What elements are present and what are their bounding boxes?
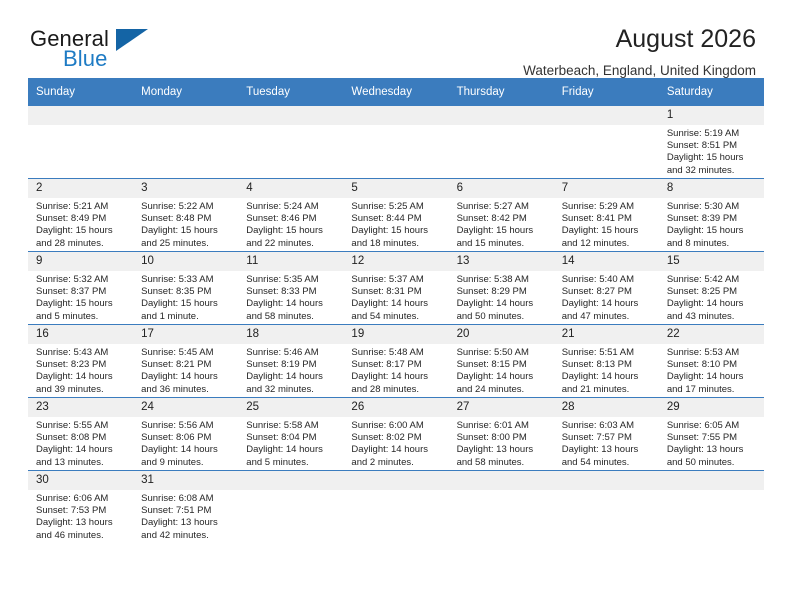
daylight-text-line1: Daylight: 14 hours bbox=[457, 371, 548, 383]
calendar-day-cell[interactable]: 12Sunrise: 5:37 AMSunset: 8:31 PMDayligh… bbox=[343, 252, 448, 325]
sunrise-text: Sunrise: 5:30 AM bbox=[667, 201, 758, 213]
day-number: 16 bbox=[28, 325, 133, 344]
sunrise-text: Sunrise: 5:35 AM bbox=[246, 274, 337, 286]
calendar-day-cell[interactable]: 19Sunrise: 5:48 AMSunset: 8:17 PMDayligh… bbox=[343, 325, 448, 398]
day-number: 23 bbox=[28, 398, 133, 417]
calendar-day-cell[interactable]: 10Sunrise: 5:33 AMSunset: 8:35 PMDayligh… bbox=[133, 252, 238, 325]
sunset-text: Sunset: 8:31 PM bbox=[351, 286, 442, 298]
page-header: General Blue August 2026 Waterbeach, Eng… bbox=[0, 0, 792, 78]
daylight-text-line2: and 5 minutes. bbox=[246, 457, 337, 469]
sunset-text: Sunset: 8:21 PM bbox=[141, 359, 232, 371]
calendar-week-row: 30Sunrise: 6:06 AMSunset: 7:53 PMDayligh… bbox=[28, 471, 764, 544]
calendar-day-cell[interactable]: 30Sunrise: 6:06 AMSunset: 7:53 PMDayligh… bbox=[28, 471, 133, 544]
daylight-text-line2: and 54 minutes. bbox=[351, 311, 442, 323]
daylight-text-line1: Daylight: 15 hours bbox=[141, 298, 232, 310]
day-details: Sunrise: 5:42 AMSunset: 8:25 PMDaylight:… bbox=[659, 271, 764, 323]
sunset-text: Sunset: 8:33 PM bbox=[246, 286, 337, 298]
sunset-text: Sunset: 8:46 PM bbox=[246, 213, 337, 225]
daylight-text-line1: Daylight: 15 hours bbox=[457, 225, 548, 237]
day-details: Sunrise: 5:33 AMSunset: 8:35 PMDaylight:… bbox=[133, 271, 238, 323]
day-number bbox=[28, 106, 133, 125]
daylight-text-line1: Daylight: 14 hours bbox=[562, 371, 653, 383]
day-number: 31 bbox=[133, 471, 238, 490]
daylight-text-line1: Daylight: 14 hours bbox=[246, 371, 337, 383]
day-number bbox=[343, 471, 448, 490]
daylight-text-line2: and 46 minutes. bbox=[36, 530, 127, 542]
calendar-page: General Blue August 2026 Waterbeach, Eng… bbox=[0, 0, 792, 612]
sunrise-text: Sunrise: 5:29 AM bbox=[562, 201, 653, 213]
calendar-day-cell[interactable]: 8Sunrise: 5:30 AMSunset: 8:39 PMDaylight… bbox=[659, 179, 764, 252]
calendar-day-cell[interactable]: 29Sunrise: 6:05 AMSunset: 7:55 PMDayligh… bbox=[659, 398, 764, 471]
calendar-day-cell-empty bbox=[449, 471, 554, 544]
calendar-week-row: 9Sunrise: 5:32 AMSunset: 8:37 PMDaylight… bbox=[28, 252, 764, 325]
sunset-text: Sunset: 8:44 PM bbox=[351, 213, 442, 225]
day-number: 7 bbox=[554, 179, 659, 198]
day-details: Sunrise: 5:56 AMSunset: 8:06 PMDaylight:… bbox=[133, 417, 238, 469]
day-details: Sunrise: 5:27 AMSunset: 8:42 PMDaylight:… bbox=[449, 198, 554, 250]
sunrise-text: Sunrise: 5:48 AM bbox=[351, 347, 442, 359]
daylight-text-line1: Daylight: 14 hours bbox=[141, 444, 232, 456]
day-number bbox=[238, 106, 343, 125]
sunrise-text: Sunrise: 5:55 AM bbox=[36, 420, 127, 432]
daylight-text-line1: Daylight: 15 hours bbox=[667, 152, 758, 164]
day-number: 28 bbox=[554, 398, 659, 417]
daylight-text-line2: and 50 minutes. bbox=[667, 457, 758, 469]
day-number: 21 bbox=[554, 325, 659, 344]
calendar-day-cell[interactable]: 20Sunrise: 5:50 AMSunset: 8:15 PMDayligh… bbox=[449, 325, 554, 398]
sunset-text: Sunset: 8:41 PM bbox=[562, 213, 653, 225]
sunset-text: Sunset: 7:57 PM bbox=[562, 432, 653, 444]
sunset-text: Sunset: 8:19 PM bbox=[246, 359, 337, 371]
day-number bbox=[554, 471, 659, 490]
calendar-day-cell[interactable]: 28Sunrise: 6:03 AMSunset: 7:57 PMDayligh… bbox=[554, 398, 659, 471]
daylight-text-line1: Daylight: 14 hours bbox=[351, 371, 442, 383]
day-number: 11 bbox=[238, 252, 343, 271]
daylight-text-line2: and 21 minutes. bbox=[562, 384, 653, 396]
calendar-day-cell[interactable]: 21Sunrise: 5:51 AMSunset: 8:13 PMDayligh… bbox=[554, 325, 659, 398]
daylight-text-line1: Daylight: 15 hours bbox=[667, 225, 758, 237]
sunrise-sunset-calendar-table: SundayMondayTuesdayWednesdayThursdayFrid… bbox=[28, 78, 764, 543]
sunrise-text: Sunrise: 6:05 AM bbox=[667, 420, 758, 432]
sunrise-text: Sunrise: 6:01 AM bbox=[457, 420, 548, 432]
day-number: 15 bbox=[659, 252, 764, 271]
daylight-text-line2: and 5 minutes. bbox=[36, 311, 127, 323]
weekday-header-monday: Monday bbox=[133, 78, 238, 106]
daylight-text-line2: and 9 minutes. bbox=[141, 457, 232, 469]
logo-triangle-icon bbox=[116, 29, 148, 51]
sunset-text: Sunset: 8:04 PM bbox=[246, 432, 337, 444]
daylight-text-line2: and 43 minutes. bbox=[667, 311, 758, 323]
sunset-text: Sunset: 7:53 PM bbox=[36, 505, 127, 517]
sunrise-text: Sunrise: 5:32 AM bbox=[36, 274, 127, 286]
day-number: 22 bbox=[659, 325, 764, 344]
day-details: Sunrise: 6:06 AMSunset: 7:53 PMDaylight:… bbox=[28, 490, 133, 542]
calendar-wrapper: SundayMondayTuesdayWednesdayThursdayFrid… bbox=[0, 78, 792, 543]
day-details: Sunrise: 5:21 AMSunset: 8:49 PMDaylight:… bbox=[28, 198, 133, 250]
day-details: Sunrise: 6:08 AMSunset: 7:51 PMDaylight:… bbox=[133, 490, 238, 542]
daylight-text-line1: Daylight: 13 hours bbox=[36, 517, 127, 529]
daylight-text-line1: Daylight: 14 hours bbox=[667, 298, 758, 310]
sunset-text: Sunset: 8:23 PM bbox=[36, 359, 127, 371]
calendar-week-row: 2Sunrise: 5:21 AMSunset: 8:49 PMDaylight… bbox=[28, 179, 764, 252]
sunrise-text: Sunrise: 5:19 AM bbox=[667, 128, 758, 140]
calendar-day-cell-empty bbox=[659, 471, 764, 544]
day-details: Sunrise: 5:22 AMSunset: 8:48 PMDaylight:… bbox=[133, 198, 238, 250]
sunrise-text: Sunrise: 5:45 AM bbox=[141, 347, 232, 359]
calendar-week-row: 16Sunrise: 5:43 AMSunset: 8:23 PMDayligh… bbox=[28, 325, 764, 398]
day-number: 3 bbox=[133, 179, 238, 198]
day-number: 27 bbox=[449, 398, 554, 417]
daylight-text-line1: Daylight: 14 hours bbox=[351, 298, 442, 310]
day-details: Sunrise: 5:51 AMSunset: 8:13 PMDaylight:… bbox=[554, 344, 659, 396]
calendar-day-cell[interactable]: 6Sunrise: 5:27 AMSunset: 8:42 PMDaylight… bbox=[449, 179, 554, 252]
sunrise-text: Sunrise: 6:08 AM bbox=[141, 493, 232, 505]
daylight-text-line2: and 58 minutes. bbox=[457, 457, 548, 469]
day-number: 24 bbox=[133, 398, 238, 417]
day-details: Sunrise: 5:35 AMSunset: 8:33 PMDaylight:… bbox=[238, 271, 343, 323]
day-number: 4 bbox=[238, 179, 343, 198]
calendar-day-cell[interactable]: 7Sunrise: 5:29 AMSunset: 8:41 PMDaylight… bbox=[554, 179, 659, 252]
sunset-text: Sunset: 8:15 PM bbox=[457, 359, 548, 371]
daylight-text-line1: Daylight: 14 hours bbox=[141, 371, 232, 383]
day-number bbox=[554, 106, 659, 125]
title-block: August 2026 Waterbeach, England, United … bbox=[523, 26, 756, 78]
day-details: Sunrise: 5:19 AMSunset: 8:51 PMDaylight:… bbox=[659, 125, 764, 177]
day-details: Sunrise: 6:01 AMSunset: 8:00 PMDaylight:… bbox=[449, 417, 554, 469]
sunrise-text: Sunrise: 5:25 AM bbox=[351, 201, 442, 213]
sunrise-text: Sunrise: 5:24 AM bbox=[246, 201, 337, 213]
daylight-text-line2: and 36 minutes. bbox=[141, 384, 232, 396]
daylight-text-line1: Daylight: 14 hours bbox=[36, 371, 127, 383]
daylight-text-line2: and 24 minutes. bbox=[457, 384, 548, 396]
daylight-text-line2: and 54 minutes. bbox=[562, 457, 653, 469]
day-details: Sunrise: 6:03 AMSunset: 7:57 PMDaylight:… bbox=[554, 417, 659, 469]
calendar-day-cell-empty bbox=[28, 106, 133, 179]
daylight-text-line1: Daylight: 15 hours bbox=[246, 225, 337, 237]
weekday-header-friday: Friday bbox=[554, 78, 659, 106]
daylight-text-line2: and 28 minutes. bbox=[351, 384, 442, 396]
daylight-text-line2: and 32 minutes. bbox=[667, 165, 758, 177]
sunset-text: Sunset: 8:17 PM bbox=[351, 359, 442, 371]
calendar-week-row: 1Sunrise: 5:19 AMSunset: 8:51 PMDaylight… bbox=[28, 106, 764, 179]
day-number: 18 bbox=[238, 325, 343, 344]
page-title: August 2026 bbox=[523, 26, 756, 54]
day-number bbox=[133, 106, 238, 125]
day-number: 30 bbox=[28, 471, 133, 490]
sunset-text: Sunset: 8:06 PM bbox=[141, 432, 232, 444]
sunset-text: Sunset: 8:00 PM bbox=[457, 432, 548, 444]
day-number: 8 bbox=[659, 179, 764, 198]
sunset-text: Sunset: 8:29 PM bbox=[457, 286, 548, 298]
daylight-text-line2: and 2 minutes. bbox=[351, 457, 442, 469]
calendar-day-cell[interactable]: 9Sunrise: 5:32 AMSunset: 8:37 PMDaylight… bbox=[28, 252, 133, 325]
day-details: Sunrise: 5:58 AMSunset: 8:04 PMDaylight:… bbox=[238, 417, 343, 469]
weekday-header-tuesday: Tuesday bbox=[238, 78, 343, 106]
day-number: 20 bbox=[449, 325, 554, 344]
sunset-text: Sunset: 8:37 PM bbox=[36, 286, 127, 298]
daylight-text-line2: and 22 minutes. bbox=[246, 238, 337, 250]
sunrise-text: Sunrise: 5:33 AM bbox=[141, 274, 232, 286]
calendar-day-cell[interactable]: 25Sunrise: 5:58 AMSunset: 8:04 PMDayligh… bbox=[238, 398, 343, 471]
sunset-text: Sunset: 7:55 PM bbox=[667, 432, 758, 444]
calendar-day-cell-empty bbox=[343, 106, 448, 179]
calendar-day-cell[interactable]: 23Sunrise: 5:55 AMSunset: 8:08 PMDayligh… bbox=[28, 398, 133, 471]
sunset-text: Sunset: 8:42 PM bbox=[457, 213, 548, 225]
calendar-day-cell-empty bbox=[449, 106, 554, 179]
daylight-text-line1: Daylight: 14 hours bbox=[246, 444, 337, 456]
sunrise-text: Sunrise: 5:38 AM bbox=[457, 274, 548, 286]
sunrise-text: Sunrise: 5:22 AM bbox=[141, 201, 232, 213]
daylight-text-line2: and 32 minutes. bbox=[246, 384, 337, 396]
daylight-text-line2: and 39 minutes. bbox=[36, 384, 127, 396]
weekday-header-row: SundayMondayTuesdayWednesdayThursdayFrid… bbox=[28, 78, 764, 106]
daylight-text-line2: and 50 minutes. bbox=[457, 311, 548, 323]
sunrise-text: Sunrise: 5:56 AM bbox=[141, 420, 232, 432]
calendar-day-cell[interactable]: 3Sunrise: 5:22 AMSunset: 8:48 PMDaylight… bbox=[133, 179, 238, 252]
calendar-day-cell-empty bbox=[554, 106, 659, 179]
daylight-text-line1: Daylight: 15 hours bbox=[562, 225, 653, 237]
sunset-text: Sunset: 8:27 PM bbox=[562, 286, 653, 298]
calendar-day-cell[interactable]: 5Sunrise: 5:25 AMSunset: 8:44 PMDaylight… bbox=[343, 179, 448, 252]
general-blue-logo[interactable]: General Blue bbox=[30, 26, 180, 74]
calendar-day-cell[interactable]: 1Sunrise: 5:19 AMSunset: 8:51 PMDaylight… bbox=[659, 106, 764, 179]
weekday-header-sunday: Sunday bbox=[28, 78, 133, 106]
day-details: Sunrise: 5:45 AMSunset: 8:21 PMDaylight:… bbox=[133, 344, 238, 396]
day-number: 25 bbox=[238, 398, 343, 417]
calendar-day-cell[interactable]: 2Sunrise: 5:21 AMSunset: 8:49 PMDaylight… bbox=[28, 179, 133, 252]
day-number bbox=[449, 471, 554, 490]
daylight-text-line2: and 18 minutes. bbox=[351, 238, 442, 250]
daylight-text-line2: and 42 minutes. bbox=[141, 530, 232, 542]
calendar-day-cell[interactable]: 15Sunrise: 5:42 AMSunset: 8:25 PMDayligh… bbox=[659, 252, 764, 325]
page-subtitle: Waterbeach, England, United Kingdom bbox=[523, 63, 756, 78]
daylight-text-line1: Daylight: 13 hours bbox=[141, 517, 232, 529]
weekday-header-saturday: Saturday bbox=[659, 78, 764, 106]
day-number: 26 bbox=[343, 398, 448, 417]
sunset-text: Sunset: 8:39 PM bbox=[667, 213, 758, 225]
sunset-text: Sunset: 8:13 PM bbox=[562, 359, 653, 371]
calendar-day-cell[interactable]: 31Sunrise: 6:08 AMSunset: 7:51 PMDayligh… bbox=[133, 471, 238, 544]
day-details: Sunrise: 5:55 AMSunset: 8:08 PMDaylight:… bbox=[28, 417, 133, 469]
sunrise-text: Sunrise: 5:40 AM bbox=[562, 274, 653, 286]
day-number: 13 bbox=[449, 252, 554, 271]
day-number bbox=[449, 106, 554, 125]
daylight-text-line2: and 15 minutes. bbox=[457, 238, 548, 250]
day-number bbox=[238, 471, 343, 490]
calendar-day-cell[interactable]: 4Sunrise: 5:24 AMSunset: 8:46 PMDaylight… bbox=[238, 179, 343, 252]
weekday-header-thursday: Thursday bbox=[449, 78, 554, 106]
day-details: Sunrise: 5:29 AMSunset: 8:41 PMDaylight:… bbox=[554, 198, 659, 250]
day-number: 2 bbox=[28, 179, 133, 198]
day-details: Sunrise: 5:30 AMSunset: 8:39 PMDaylight:… bbox=[659, 198, 764, 250]
sunrise-text: Sunrise: 5:50 AM bbox=[457, 347, 548, 359]
calendar-day-cell[interactable]: 26Sunrise: 6:00 AMSunset: 8:02 PMDayligh… bbox=[343, 398, 448, 471]
sunrise-text: Sunrise: 5:37 AM bbox=[351, 274, 442, 286]
day-number: 9 bbox=[28, 252, 133, 271]
sunrise-text: Sunrise: 6:06 AM bbox=[36, 493, 127, 505]
day-details: Sunrise: 5:37 AMSunset: 8:31 PMDaylight:… bbox=[343, 271, 448, 323]
day-number: 14 bbox=[554, 252, 659, 271]
day-number: 29 bbox=[659, 398, 764, 417]
sunset-text: Sunset: 8:35 PM bbox=[141, 286, 232, 298]
sunset-text: Sunset: 7:51 PM bbox=[141, 505, 232, 517]
day-number: 6 bbox=[449, 179, 554, 198]
day-number: 10 bbox=[133, 252, 238, 271]
day-number: 19 bbox=[343, 325, 448, 344]
sunrise-text: Sunrise: 5:53 AM bbox=[667, 347, 758, 359]
daylight-text-line1: Daylight: 14 hours bbox=[457, 298, 548, 310]
daylight-text-line1: Daylight: 14 hours bbox=[562, 298, 653, 310]
daylight-text-line2: and 1 minute. bbox=[141, 311, 232, 323]
daylight-text-line1: Daylight: 14 hours bbox=[351, 444, 442, 456]
sunrise-text: Sunrise: 5:58 AM bbox=[246, 420, 337, 432]
sunrise-text: Sunrise: 6:00 AM bbox=[351, 420, 442, 432]
calendar-header-row-group: SundayMondayTuesdayWednesdayThursdayFrid… bbox=[28, 78, 764, 106]
calendar-day-cell[interactable]: 14Sunrise: 5:40 AMSunset: 8:27 PMDayligh… bbox=[554, 252, 659, 325]
daylight-text-line2: and 12 minutes. bbox=[562, 238, 653, 250]
calendar-week-row: 23Sunrise: 5:55 AMSunset: 8:08 PMDayligh… bbox=[28, 398, 764, 471]
daylight-text-line2: and 28 minutes. bbox=[36, 238, 127, 250]
daylight-text-line1: Daylight: 15 hours bbox=[36, 225, 127, 237]
day-details: Sunrise: 5:53 AMSunset: 8:10 PMDaylight:… bbox=[659, 344, 764, 396]
calendar-day-cell[interactable]: 27Sunrise: 6:01 AMSunset: 8:00 PMDayligh… bbox=[449, 398, 554, 471]
daylight-text-line2: and 58 minutes. bbox=[246, 311, 337, 323]
daylight-text-line1: Daylight: 14 hours bbox=[667, 371, 758, 383]
day-details: Sunrise: 5:50 AMSunset: 8:15 PMDaylight:… bbox=[449, 344, 554, 396]
sunrise-text: Sunrise: 5:46 AM bbox=[246, 347, 337, 359]
day-details: Sunrise: 5:48 AMSunset: 8:17 PMDaylight:… bbox=[343, 344, 448, 396]
sunset-text: Sunset: 8:25 PM bbox=[667, 286, 758, 298]
day-details: Sunrise: 5:40 AMSunset: 8:27 PMDaylight:… bbox=[554, 271, 659, 323]
calendar-day-cell[interactable]: 13Sunrise: 5:38 AMSunset: 8:29 PMDayligh… bbox=[449, 252, 554, 325]
day-number bbox=[343, 106, 448, 125]
day-details: Sunrise: 5:43 AMSunset: 8:23 PMDaylight:… bbox=[28, 344, 133, 396]
day-details: Sunrise: 5:32 AMSunset: 8:37 PMDaylight:… bbox=[28, 271, 133, 323]
daylight-text-line2: and 25 minutes. bbox=[141, 238, 232, 250]
day-details: Sunrise: 5:24 AMSunset: 8:46 PMDaylight:… bbox=[238, 198, 343, 250]
sunset-text: Sunset: 8:08 PM bbox=[36, 432, 127, 444]
day-details: Sunrise: 5:38 AMSunset: 8:29 PMDaylight:… bbox=[449, 271, 554, 323]
sunrise-text: Sunrise: 5:21 AM bbox=[36, 201, 127, 213]
day-details: Sunrise: 5:46 AMSunset: 8:19 PMDaylight:… bbox=[238, 344, 343, 396]
calendar-day-cell-empty bbox=[238, 471, 343, 544]
calendar-day-cell[interactable]: 18Sunrise: 5:46 AMSunset: 8:19 PMDayligh… bbox=[238, 325, 343, 398]
calendar-body: 1Sunrise: 5:19 AMSunset: 8:51 PMDaylight… bbox=[28, 106, 764, 543]
day-number bbox=[659, 471, 764, 490]
daylight-text-line2: and 13 minutes. bbox=[36, 457, 127, 469]
daylight-text-line2: and 47 minutes. bbox=[562, 311, 653, 323]
calendar-day-cell[interactable]: 16Sunrise: 5:43 AMSunset: 8:23 PMDayligh… bbox=[28, 325, 133, 398]
sunset-text: Sunset: 8:02 PM bbox=[351, 432, 442, 444]
sunset-text: Sunset: 8:49 PM bbox=[36, 213, 127, 225]
calendar-day-cell-empty bbox=[238, 106, 343, 179]
daylight-text-line1: Daylight: 14 hours bbox=[36, 444, 127, 456]
sunset-text: Sunset: 8:48 PM bbox=[141, 213, 232, 225]
calendar-day-cell[interactable]: 17Sunrise: 5:45 AMSunset: 8:21 PMDayligh… bbox=[133, 325, 238, 398]
daylight-text-line1: Daylight: 13 hours bbox=[667, 444, 758, 456]
calendar-day-cell-empty bbox=[133, 106, 238, 179]
calendar-day-cell[interactable]: 22Sunrise: 5:53 AMSunset: 8:10 PMDayligh… bbox=[659, 325, 764, 398]
daylight-text-line1: Daylight: 13 hours bbox=[562, 444, 653, 456]
day-number: 1 bbox=[659, 106, 764, 125]
sunset-text: Sunset: 8:51 PM bbox=[667, 140, 758, 152]
sunrise-text: Sunrise: 6:03 AM bbox=[562, 420, 653, 432]
daylight-text-line1: Daylight: 14 hours bbox=[246, 298, 337, 310]
day-details: Sunrise: 5:25 AMSunset: 8:44 PMDaylight:… bbox=[343, 198, 448, 250]
daylight-text-line2: and 8 minutes. bbox=[667, 238, 758, 250]
sunrise-text: Sunrise: 5:43 AM bbox=[36, 347, 127, 359]
day-number: 5 bbox=[343, 179, 448, 198]
sunset-text: Sunset: 8:10 PM bbox=[667, 359, 758, 371]
day-details: Sunrise: 6:00 AMSunset: 8:02 PMDaylight:… bbox=[343, 417, 448, 469]
daylight-text-line1: Daylight: 15 hours bbox=[141, 225, 232, 237]
weekday-header-wednesday: Wednesday bbox=[343, 78, 448, 106]
calendar-day-cell[interactable]: 11Sunrise: 5:35 AMSunset: 8:33 PMDayligh… bbox=[238, 252, 343, 325]
sunrise-text: Sunrise: 5:27 AM bbox=[457, 201, 548, 213]
daylight-text-line1: Daylight: 13 hours bbox=[457, 444, 548, 456]
daylight-text-line2: and 17 minutes. bbox=[667, 384, 758, 396]
logo-word-blue: Blue bbox=[63, 48, 107, 70]
calendar-day-cell[interactable]: 24Sunrise: 5:56 AMSunset: 8:06 PMDayligh… bbox=[133, 398, 238, 471]
day-number: 17 bbox=[133, 325, 238, 344]
day-number: 12 bbox=[343, 252, 448, 271]
daylight-text-line1: Daylight: 15 hours bbox=[351, 225, 442, 237]
day-details: Sunrise: 6:05 AMSunset: 7:55 PMDaylight:… bbox=[659, 417, 764, 469]
calendar-day-cell-empty bbox=[343, 471, 448, 544]
daylight-text-line1: Daylight: 15 hours bbox=[36, 298, 127, 310]
calendar-day-cell-empty bbox=[554, 471, 659, 544]
sunrise-text: Sunrise: 5:51 AM bbox=[562, 347, 653, 359]
sunrise-text: Sunrise: 5:42 AM bbox=[667, 274, 758, 286]
